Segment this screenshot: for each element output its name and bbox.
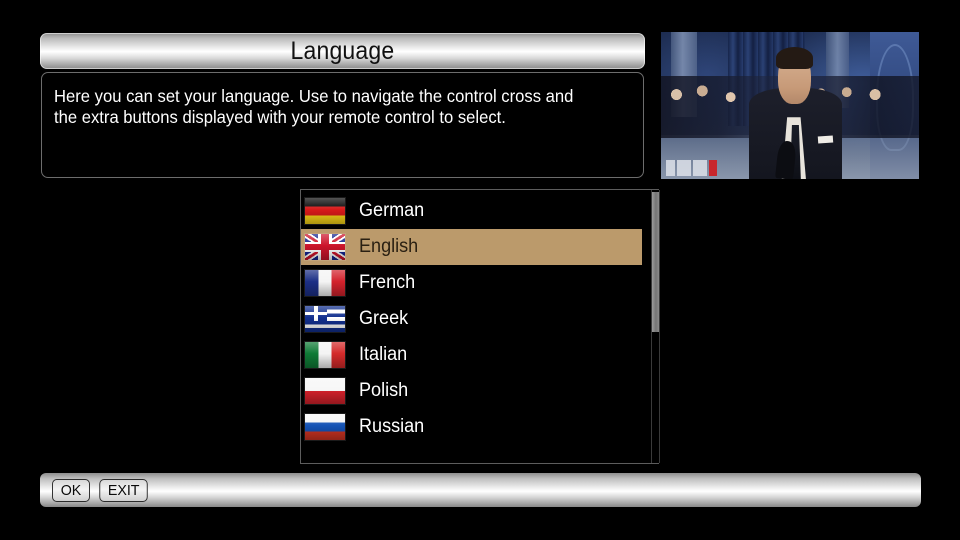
scrollbar-thumb[interactable] — [652, 192, 659, 332]
list-item-selected[interactable]: English — [301, 229, 642, 265]
list-item[interactable]: German — [301, 193, 658, 229]
bug-block-2 — [677, 160, 691, 176]
description-line-1: Here you can set your language. Use to n… — [54, 86, 600, 107]
bug-block-1 — [666, 160, 675, 176]
bug-block-3 — [693, 160, 707, 176]
greek-flag-canton — [305, 306, 327, 321]
description-line-2: the extra buttons displayed with your re… — [54, 107, 600, 128]
list-item-label: English — [359, 236, 418, 258]
ok-button[interactable]: OK — [52, 479, 90, 502]
german-flag-icon — [305, 198, 345, 224]
list-item-label: Italian — [359, 344, 407, 366]
list-item[interactable]: Polish — [301, 373, 658, 409]
exit-button[interactable]: EXIT — [99, 479, 148, 502]
language-list[interactable]: German English French Greek Italian Poli… — [300, 189, 659, 464]
list-item-label: Greek — [359, 308, 408, 330]
bug-block-red — [709, 160, 717, 176]
description-panel: Here you can set your language. Use to n… — [41, 72, 644, 178]
polish-flag-icon — [305, 378, 345, 404]
list-scrollbar[interactable] — [651, 190, 660, 463]
video-preview[interactable] — [661, 32, 919, 179]
list-item-label: German — [359, 200, 424, 222]
greek-flag-icon — [305, 306, 345, 332]
russian-flag-icon — [305, 414, 345, 440]
list-item[interactable]: Italian — [301, 337, 658, 373]
video-reporter-hair — [776, 47, 813, 69]
list-item-label: Polish — [359, 380, 408, 402]
page-title: Language — [291, 37, 395, 66]
italian-flag-icon — [305, 342, 345, 368]
uk-flag-cross-red — [305, 234, 345, 260]
list-item-label: French — [359, 272, 415, 294]
uk-flag-icon — [305, 234, 345, 260]
title-bar: Language — [40, 33, 645, 69]
list-item[interactable]: French — [301, 265, 658, 301]
channel-bug-icon — [666, 160, 717, 176]
bottom-action-bar: OK EXIT — [40, 473, 921, 507]
french-flag-icon — [305, 270, 345, 296]
list-item-label: Russian — [359, 416, 424, 438]
list-item[interactable]: Greek — [301, 301, 658, 337]
list-item[interactable]: Russian — [301, 409, 658, 445]
